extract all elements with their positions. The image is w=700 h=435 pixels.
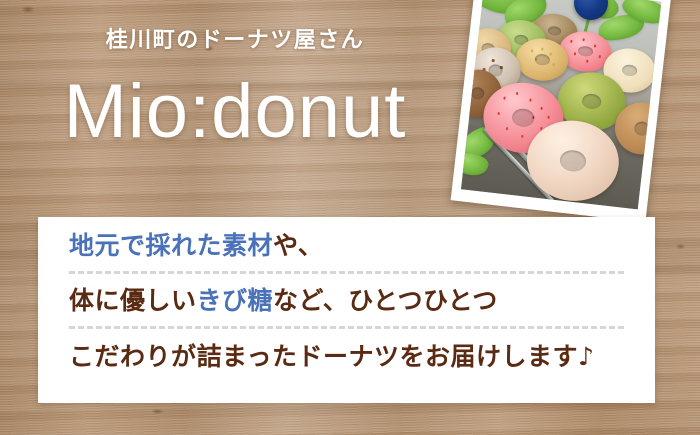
info-line-2-segment-3: など、ひとつひとつ [273, 286, 498, 315]
info-line-1-segment-2: や、 [273, 231, 323, 260]
info-line-2: 体に優しいきび糖など、ひとつひとつ [69, 274, 655, 326]
info-line-2-segment-1: 体に優しい [69, 286, 197, 315]
wood-knot [22, 6, 34, 13]
wood-knot [152, 409, 163, 414]
info-card: 地元で採れた素材や、 体に優しいきび糖など、ひとつひとつ こだわりが詰まったドー… [38, 217, 655, 403]
info-card-content: 地元で採れた素材や、 体に優しいきび糖など、ひとつひとつ こだわりが詰まったドー… [38, 217, 655, 369]
wood-knot [676, 244, 685, 249]
donut-photo-frame [451, 0, 672, 222]
info-line-1-segment-1: 地元で採れた素材 [69, 231, 273, 260]
info-line-2-segment-2: きび糖 [197, 286, 274, 315]
info-line-1: 地元で採れた素材や、 [69, 233, 655, 271]
banner-root: 桂川町のドーナツ屋さん Mio:donut [0, 0, 700, 435]
info-line-3-segment-1: こだわりが詰まったドーナツをお届けします♪ [69, 342, 594, 371]
donut-photo-scene [461, 0, 662, 209]
donut-photo [461, 0, 662, 209]
wood-knot [205, 46, 214, 51]
info-line-3: こだわりが詰まったドーナツをお届けします♪ [69, 329, 655, 369]
